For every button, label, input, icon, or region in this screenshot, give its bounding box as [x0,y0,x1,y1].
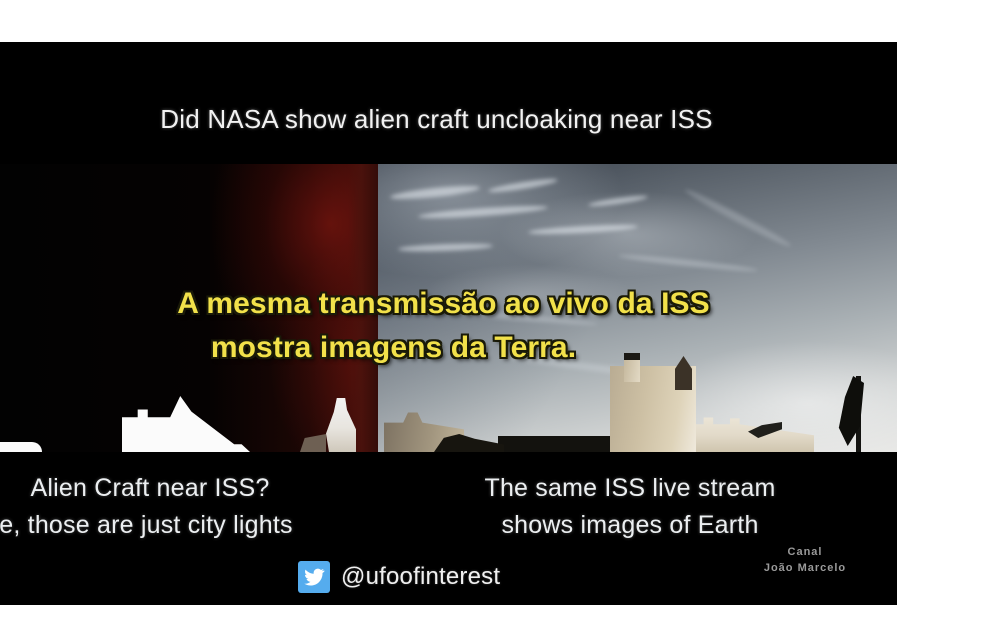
inverted-building-shape [300,432,326,452]
caption-left-line-2: e, those are just city lights [0,507,330,544]
caption-left: Alien Craft near ISS? e, those are just … [0,470,330,544]
portuguese-subtitle-line-2: mostra imagens da Terra. [0,326,897,370]
caption-left-line-1: Alien Craft near ISS? [30,474,269,502]
caption-right: The same ISS live stream shows images of… [430,470,830,544]
building-silhouette [498,436,618,452]
caption-right-line-2: shows images of Earth [430,507,830,544]
portuguese-subtitle: A mesma transmissão ao vivo da ISS mostr… [0,282,897,370]
watermark-line-2: João Marcelo [730,560,880,576]
channel-watermark: Canal João Marcelo [730,544,880,576]
portuguese-subtitle-line-1: A mesma transmissão ao vivo da ISS [0,282,897,326]
inverted-building-shape [122,396,234,452]
caption-right-line-1: The same ISS live stream [484,474,775,502]
inverted-building-shape [0,442,42,452]
watermark-line-1: Canal [730,544,880,560]
social-handle[interactable]: @ufoofinterest [298,561,500,593]
headline-line-1: Did NASA show alien craft uncloaking nea… [0,100,897,138]
screenshot-root: Did NASA show alien craft uncloaking nea… [0,0,1000,625]
social-handle-text[interactable]: @ufoofinterest [341,563,500,591]
video-frame-panel: Did NASA show alien craft uncloaking nea… [0,42,897,605]
twitter-bird-icon[interactable] [298,561,330,593]
